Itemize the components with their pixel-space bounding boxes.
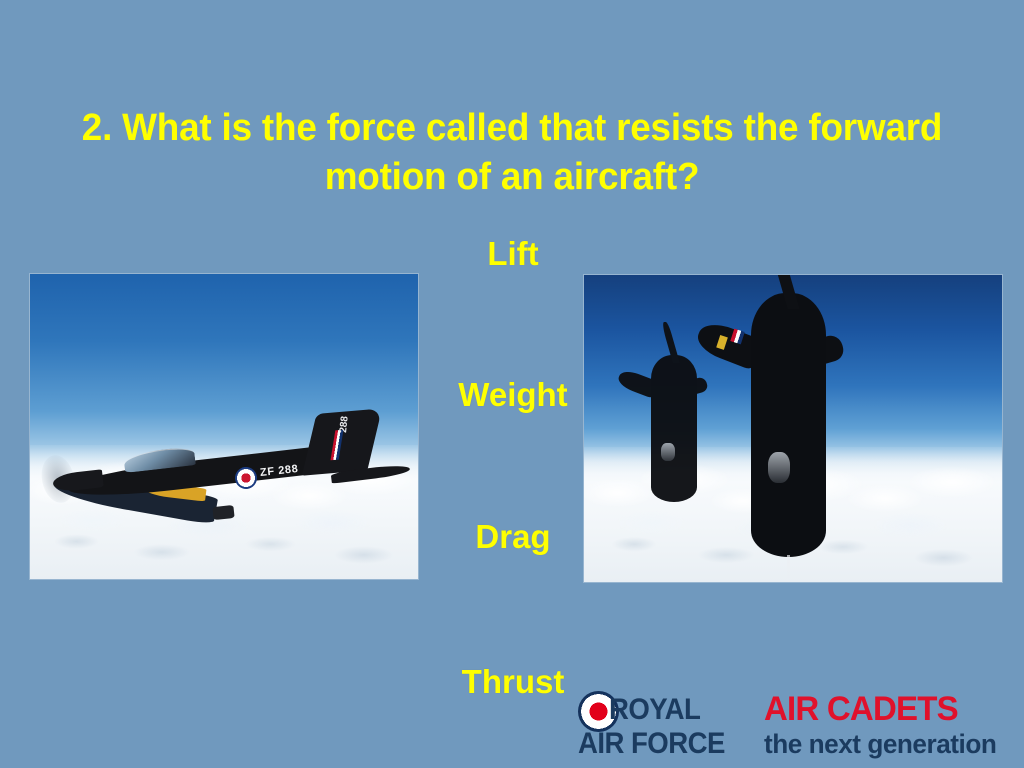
underwing-pod bbox=[213, 505, 236, 520]
hawk-jet-trailing bbox=[651, 355, 697, 502]
title-line-2: motion of an aircraft? bbox=[52, 153, 972, 202]
fuselage bbox=[751, 293, 826, 557]
answer-option-drag[interactable]: Drag bbox=[383, 517, 643, 557]
slide-canvas: 2. What is the force called that resists… bbox=[0, 0, 1024, 768]
reflection-highlight bbox=[661, 443, 675, 461]
image-tucano-in-flight: ZF 288 288 bbox=[30, 274, 418, 579]
tail-number-text: 288 bbox=[338, 416, 351, 434]
logo-air-cadets-text: AIR CADETS bbox=[764, 691, 958, 728]
royal-air-force-lockup: ROYAL AIR FORCE bbox=[578, 691, 756, 765]
answer-option-lift[interactable]: Lift bbox=[383, 234, 643, 274]
aircraft-serial-text: ZF 288 bbox=[259, 463, 298, 479]
logo-royal-text: ROYAL bbox=[609, 693, 700, 727]
hawk-jet-leading bbox=[751, 293, 826, 557]
page-title: 2. What is the force called that resists… bbox=[52, 104, 972, 202]
answer-option-weight[interactable]: Weight bbox=[383, 375, 643, 415]
reflection-highlight bbox=[768, 452, 791, 484]
raf-air-cadets-logo: ROYAL AIR FORCE AIR CADETS the next gene… bbox=[578, 691, 1018, 765]
title-line-1: 2. What is the force called that resists… bbox=[52, 104, 972, 153]
image-hawk-jets-vertical-climb bbox=[584, 275, 1002, 582]
logo-air-force-text: AIR FORCE bbox=[578, 727, 725, 761]
tucano-aircraft: ZF 288 288 bbox=[46, 402, 403, 542]
fuselage bbox=[651, 355, 697, 502]
logo-tagline-text: the next generation bbox=[764, 729, 996, 760]
smoke-trail bbox=[787, 555, 790, 582]
